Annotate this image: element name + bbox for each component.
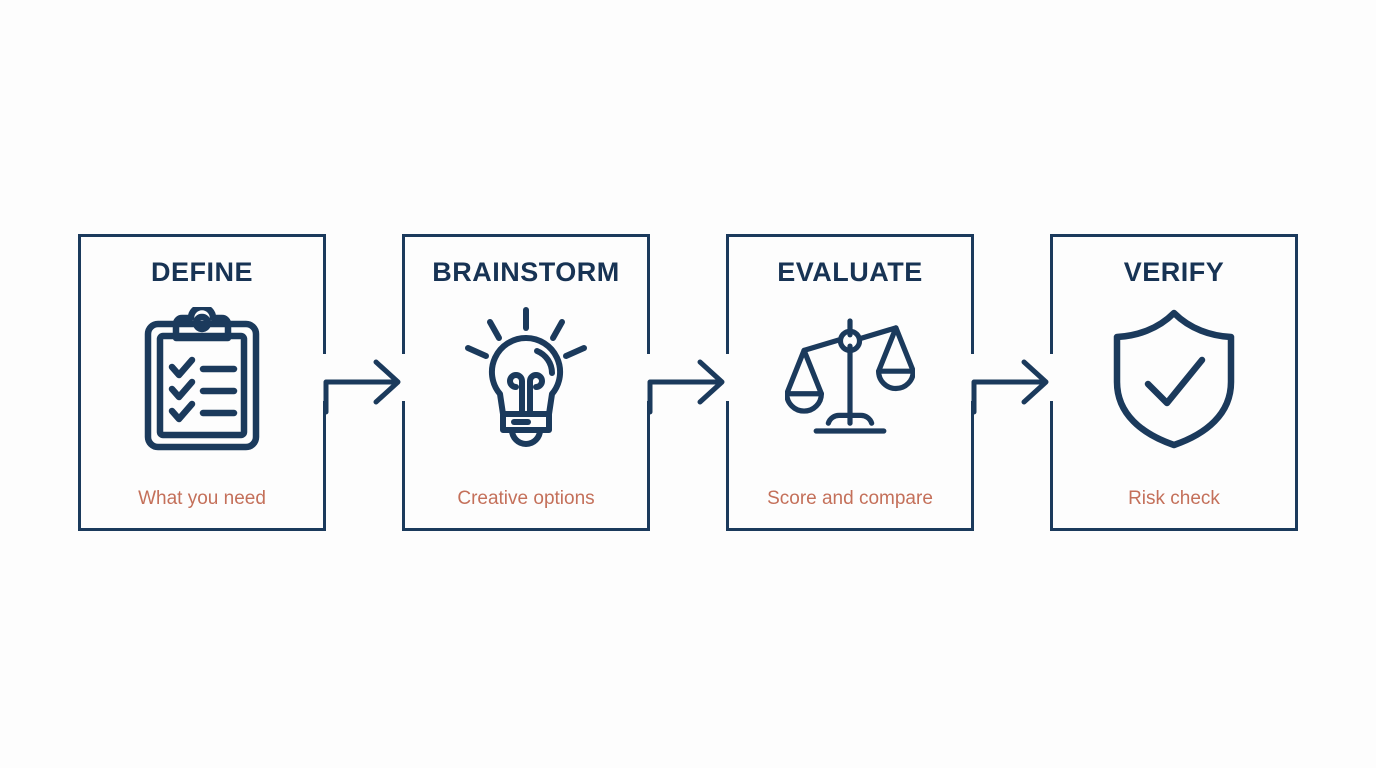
step-card-verify[interactable]: VERIFY Risk check	[1050, 234, 1298, 531]
step-subtitle-evaluate: Score and compare	[726, 489, 974, 508]
card-border-top	[402, 234, 650, 237]
card-border-left	[1050, 401, 1053, 531]
arrow-right-icon	[314, 349, 410, 415]
card-border-left	[402, 401, 405, 531]
card-border-right	[647, 401, 650, 531]
step-title-evaluate: EVALUATE	[777, 259, 923, 286]
card-border-right	[323, 234, 326, 354]
card-border-bottom	[1050, 528, 1298, 531]
card-border-top	[726, 234, 974, 237]
card-border-right	[1295, 383, 1298, 531]
lightbulb-icon	[461, 304, 591, 454]
step-title-brainstorm: BRAINSTORM	[432, 259, 620, 286]
card-border-top	[1050, 234, 1298, 237]
card-border-left	[726, 234, 729, 354]
step-card-brainstorm[interactable]: BRAINSTORM Creative options	[402, 234, 650, 531]
card-border-top	[78, 234, 326, 237]
step-subtitle-define: What you need	[78, 489, 326, 508]
card-border-bottom	[78, 528, 326, 531]
card-border-left	[402, 234, 405, 354]
card-border-left	[78, 383, 81, 531]
card-border-bottom	[726, 528, 974, 531]
clipboard-checklist-icon	[137, 304, 267, 454]
step-card-define[interactable]: DEFINE What you need	[78, 234, 326, 531]
step-title-define: DEFINE	[151, 259, 253, 286]
step-title-verify: VERIFY	[1124, 259, 1225, 286]
card-border-right	[971, 234, 974, 354]
arrow-right-icon	[638, 349, 734, 415]
process-flow-diagram: DEFINE What you need	[0, 0, 1376, 768]
card-border-right	[971, 401, 974, 531]
arrow-right-icon	[962, 349, 1058, 415]
card-border-left	[1050, 234, 1053, 354]
card-border-bottom	[402, 528, 650, 531]
step-subtitle-brainstorm: Creative options	[402, 489, 650, 508]
card-border-right	[1295, 234, 1298, 383]
step-card-evaluate[interactable]: EVALUATE Score and compare	[726, 234, 974, 531]
card-border-right	[647, 234, 650, 354]
card-border-left	[726, 401, 729, 531]
shield-check-icon	[1109, 304, 1239, 454]
step-subtitle-verify: Risk check	[1050, 489, 1298, 508]
card-border-right	[323, 401, 326, 531]
balance-scales-icon	[785, 304, 915, 454]
card-border-left	[78, 234, 81, 383]
